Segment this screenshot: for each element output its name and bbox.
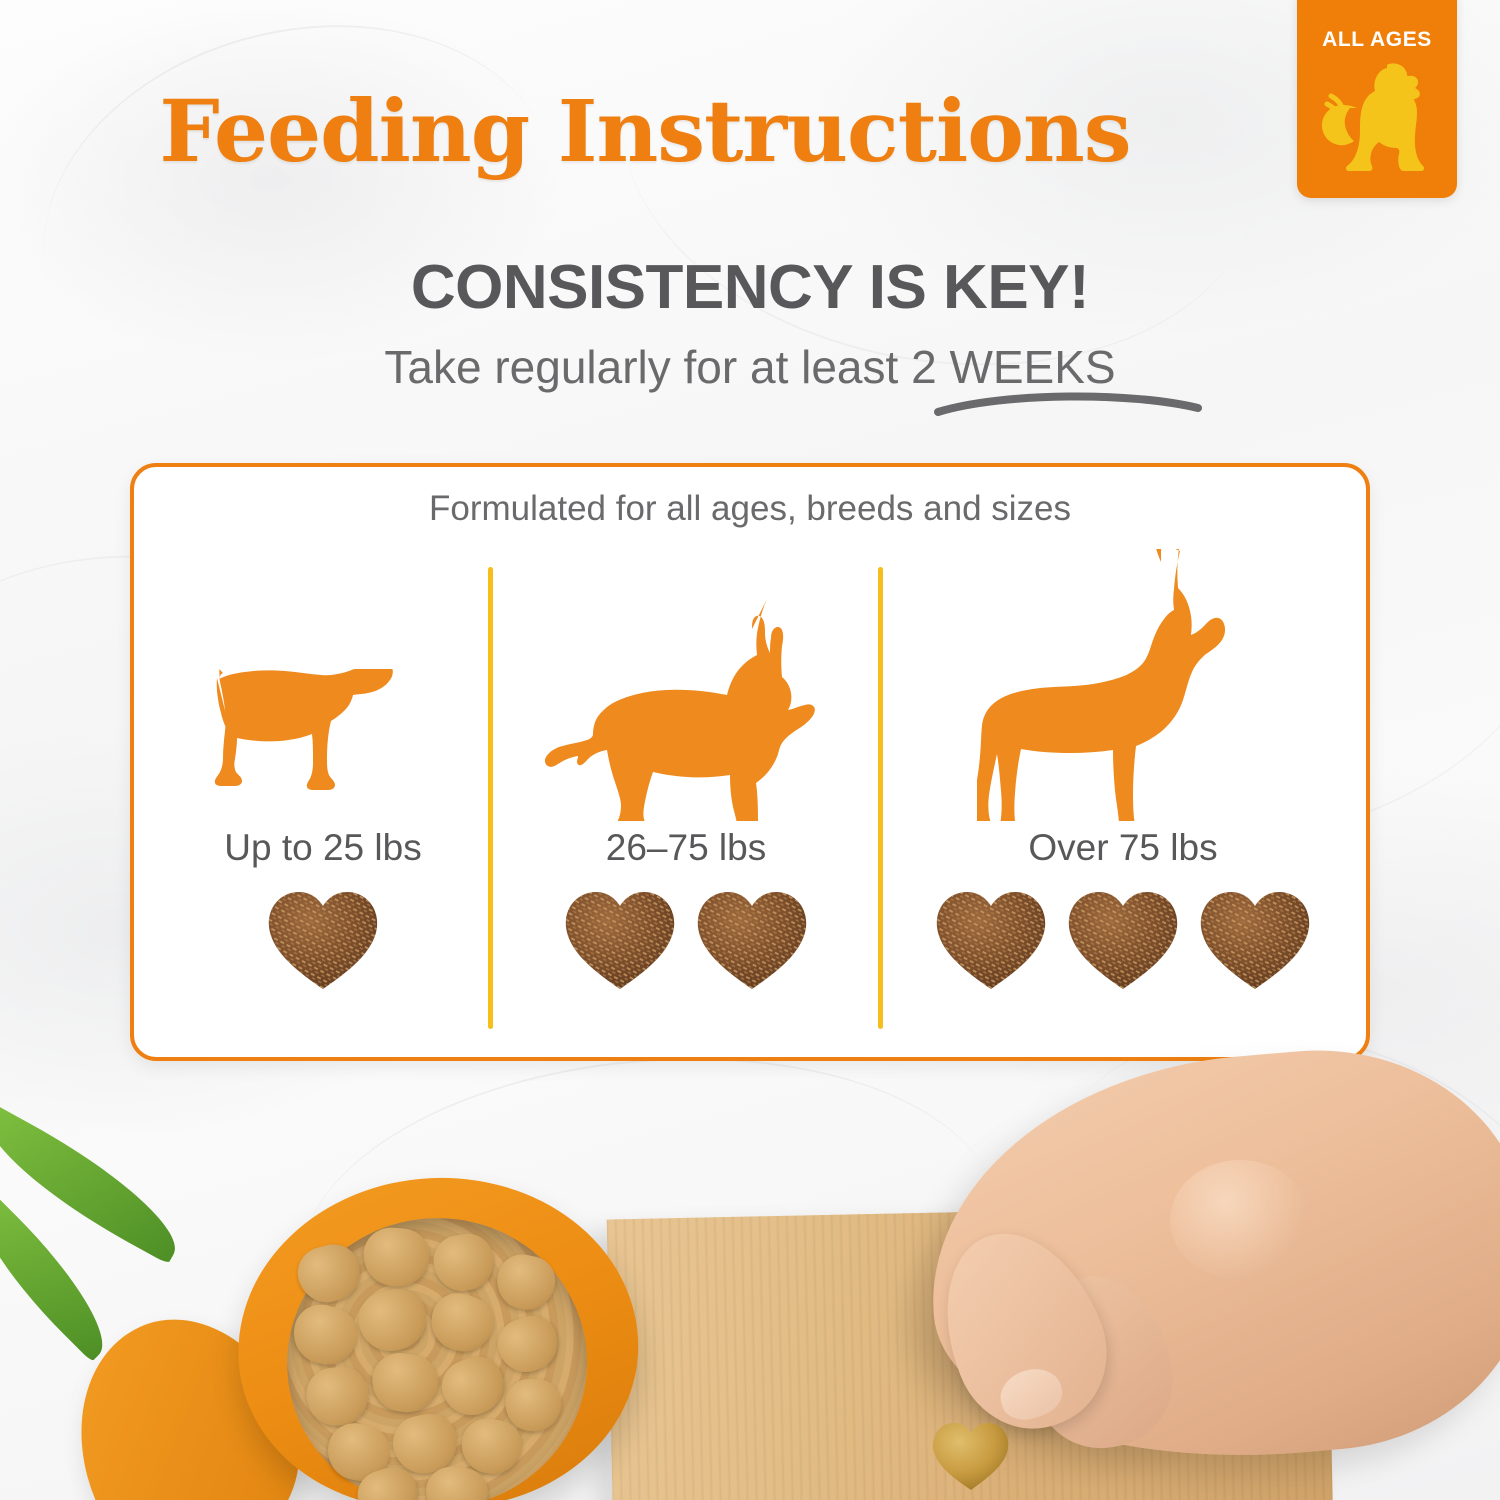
heart-kibble-icon [561, 883, 679, 995]
size-label: Over 75 lbs [884, 827, 1362, 869]
size-label: Up to 25 lbs [146, 827, 500, 869]
product-photo [0, 1040, 1500, 1500]
size-column-small: Up to 25 lbs [146, 551, 500, 995]
treat-count-row [884, 883, 1362, 995]
medium-dog-icon [536, 597, 836, 821]
card-heading: Formulated for all ages, breeds and size… [134, 489, 1366, 529]
feeding-guide-card: Formulated for all ages, breeds and size… [130, 463, 1370, 1061]
size-label: 26–75 lbs [494, 827, 878, 869]
large-dog-icon [977, 549, 1269, 821]
subtitle: CONSISTENCY IS KEY! [0, 252, 1500, 323]
small-dog-icon [212, 669, 434, 821]
marble-vein [2, 0, 599, 469]
infographic-root: ALL AGES Feeding Instructions CONSISTENC… [0, 0, 1500, 1500]
heart-kibble-icon [1196, 883, 1314, 995]
heart-kibble-icon [264, 883, 382, 995]
all-ages-badge-label: ALL AGES [1297, 28, 1457, 52]
heart-kibble-icon [693, 883, 811, 995]
dog-illustration-wrap [146, 551, 500, 821]
kibble-pile [280, 1210, 595, 1500]
treat-count-row [494, 883, 878, 995]
tagline-prefix: Take regularly for at least [384, 341, 911, 393]
size-column-medium: 26–75 lbs [494, 551, 878, 995]
held-kibble-icon [930, 1418, 1012, 1492]
page-title: Feeding Instructions [0, 82, 1290, 182]
dog-illustration-wrap [884, 551, 1362, 821]
sitting-dog-icon [1313, 56, 1441, 184]
food-bowl [230, 1168, 647, 1500]
knuckle-highlight [1170, 1160, 1310, 1280]
treat-count-row [146, 883, 500, 995]
size-column-large: Over 75 lbs [884, 551, 1362, 995]
dog-illustration-wrap [494, 551, 878, 821]
tagline: Take regularly for at least 2 WEEKS [0, 340, 1500, 394]
heart-kibble-icon [932, 883, 1050, 995]
all-ages-badge: ALL AGES [1297, 0, 1457, 198]
column-divider [878, 567, 883, 1029]
heart-kibble-icon [1064, 883, 1182, 995]
underline-swoosh-icon [934, 386, 1202, 416]
